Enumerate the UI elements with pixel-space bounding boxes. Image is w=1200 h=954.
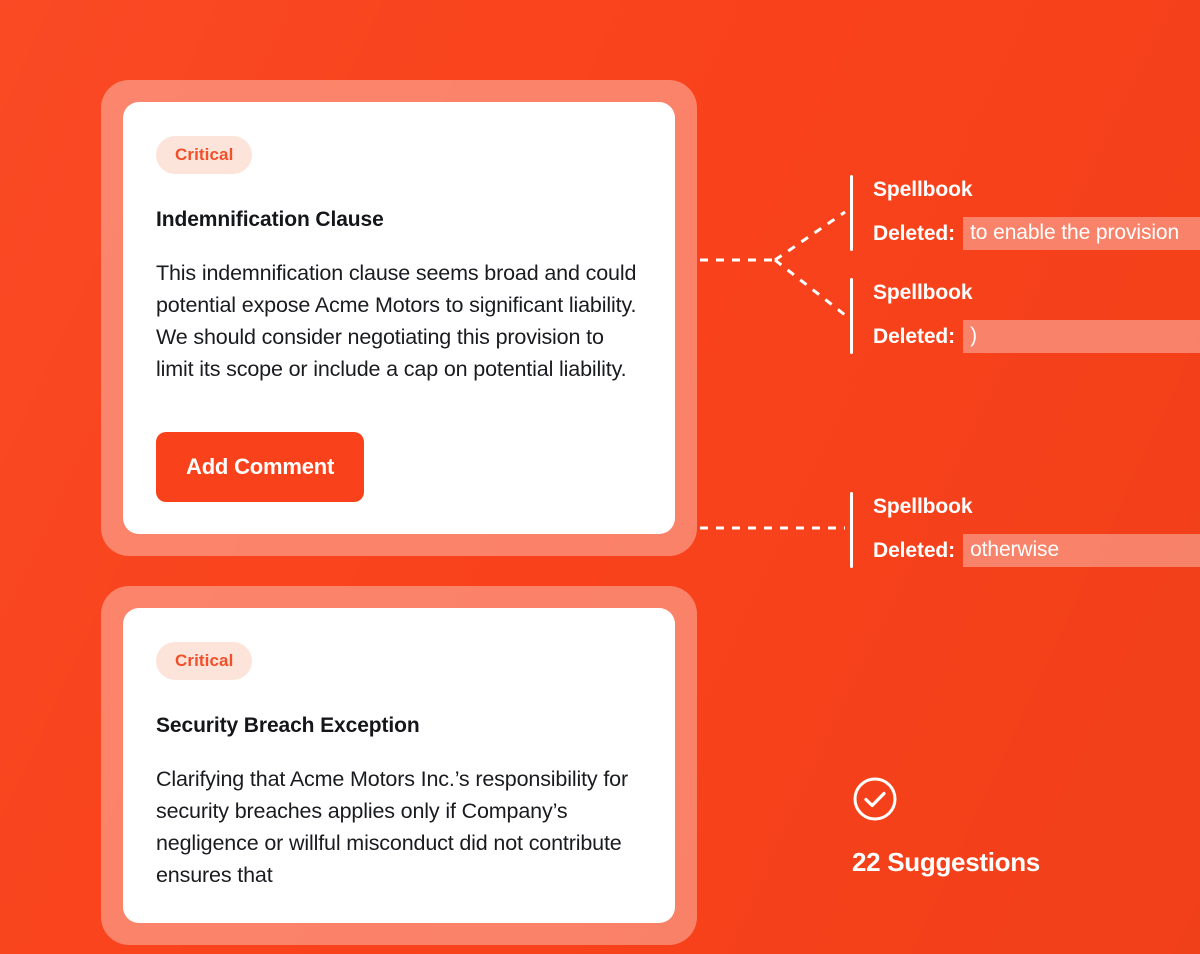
- annotation-content: Spellbook Deleted: otherwise: [873, 492, 1200, 568]
- check-circle-icon: [852, 776, 898, 822]
- suggestion-card-security-breach[interactable]: Critical Security Breach Exception Clari…: [123, 608, 675, 923]
- card-body-text: This indemnification clause seems broad …: [156, 257, 642, 385]
- annotation-deleted-label: Deleted:: [873, 538, 955, 564]
- annotation-deleted-row: Deleted: ): [873, 320, 1200, 353]
- suggestions-summary: 22 Suggestions: [852, 776, 1040, 878]
- card-title: Security Breach Exception: [156, 714, 642, 738]
- annotation-item[interactable]: Spellbook Deleted: ): [850, 278, 1200, 354]
- annotation-item[interactable]: Spellbook Deleted: otherwise: [850, 492, 1200, 568]
- card-title: Indemnification Clause: [156, 208, 642, 232]
- annotation-content: Spellbook Deleted: to enable the provisi…: [873, 175, 1200, 251]
- card-body-text: Clarifying that Acme Motors Inc.’s respo…: [156, 763, 642, 891]
- status-badge: Critical: [156, 642, 252, 680]
- annotation-content: Spellbook Deleted: ): [873, 278, 1200, 354]
- annotation-accent-bar: [850, 175, 853, 251]
- suggestion-card-list: Critical Indemnification Clause This ind…: [101, 80, 697, 954]
- annotation-accent-bar: [850, 492, 853, 568]
- add-comment-button[interactable]: Add Comment: [156, 432, 364, 502]
- suggestion-card-frame: Critical Indemnification Clause This ind…: [101, 80, 697, 556]
- annotation-deleted-label: Deleted:: [873, 324, 955, 350]
- annotation-source-label: Spellbook: [873, 280, 1200, 306]
- connector-branch-upper: [775, 212, 845, 260]
- connector-branch-lower: [775, 260, 845, 315]
- annotation-deleted-row: Deleted: otherwise: [873, 534, 1200, 567]
- annotation-deleted-text: ): [963, 320, 1200, 353]
- annotation-deleted-text: otherwise: [963, 534, 1200, 567]
- annotation-deleted-text: to enable the provision: [963, 217, 1200, 250]
- suggestion-card-indemnification[interactable]: Critical Indemnification Clause This ind…: [123, 102, 675, 534]
- suggestion-card-frame: Critical Security Breach Exception Clari…: [101, 586, 697, 945]
- annotation-source-label: Spellbook: [873, 494, 1200, 520]
- annotation-accent-bar: [850, 278, 853, 354]
- annotation-source-label: Spellbook: [873, 177, 1200, 203]
- suggestions-count-label: 22 Suggestions: [852, 847, 1040, 878]
- status-badge: Critical: [156, 136, 252, 174]
- annotation-item[interactable]: Spellbook Deleted: to enable the provisi…: [850, 175, 1200, 251]
- annotation-deleted-row: Deleted: to enable the provision: [873, 217, 1200, 250]
- annotation-deleted-label: Deleted:: [873, 221, 955, 247]
